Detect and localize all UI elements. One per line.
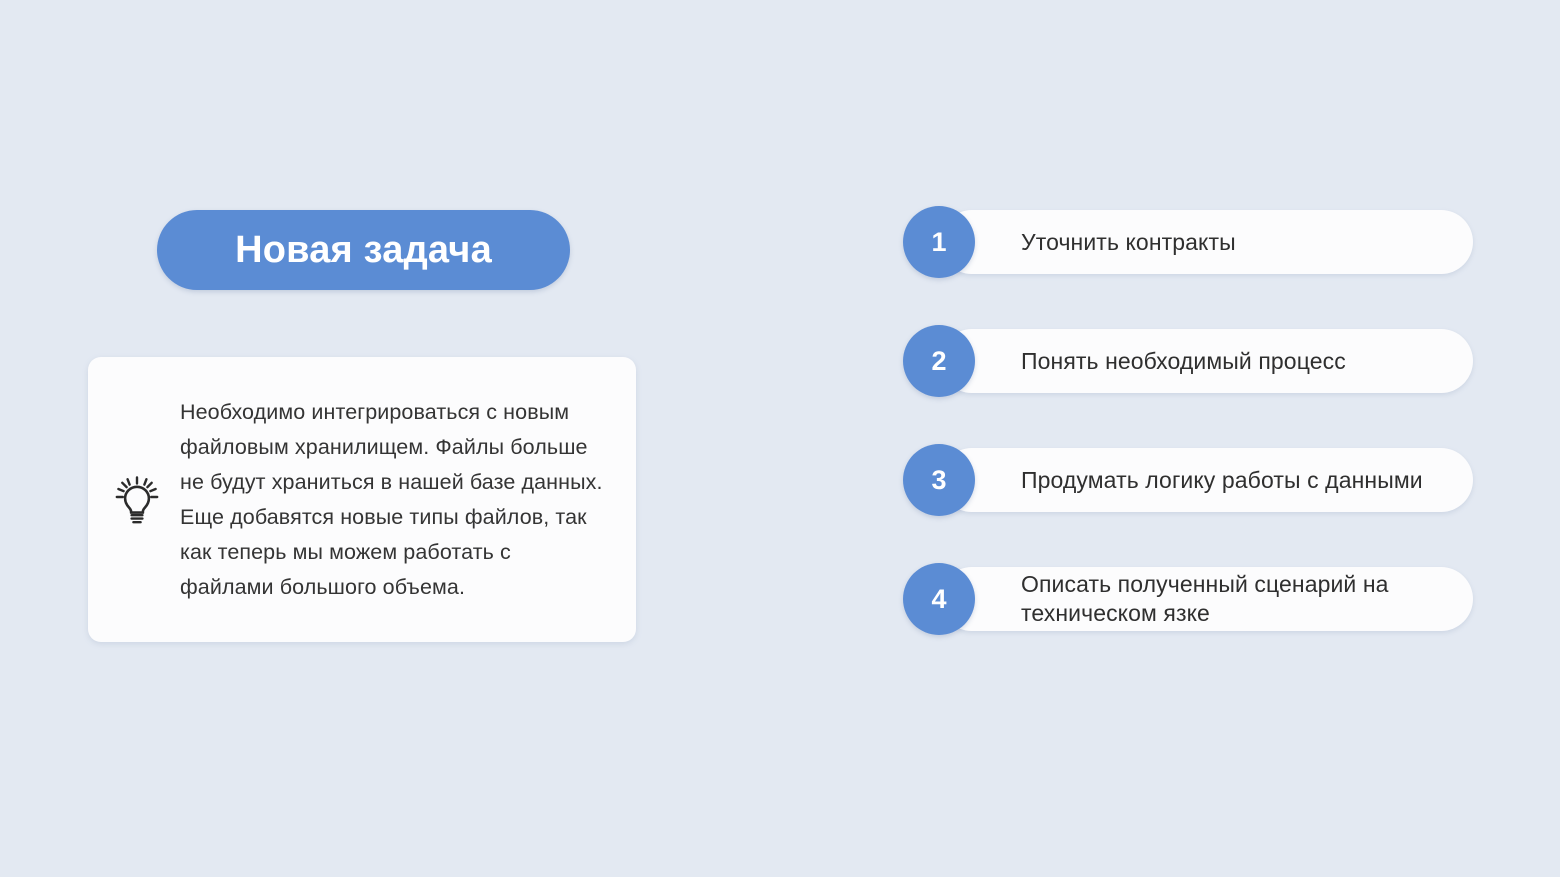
step-number-badge: 1 — [903, 206, 975, 278]
step-pill[interactable]: Описать полученный сценарий на техническ… — [940, 567, 1473, 631]
step-number-badge: 2 — [903, 325, 975, 397]
step-label: Уточнить контракты — [1021, 228, 1236, 257]
note-text: Необходимо интегрироваться с новым файло… — [180, 395, 636, 605]
step-number: 2 — [931, 348, 946, 375]
title-pill: Новая задача — [157, 210, 570, 290]
step-number-badge: 3 — [903, 444, 975, 516]
step-number-badge: 4 — [903, 563, 975, 635]
step-label: Понять необходимый процесс — [1021, 347, 1346, 376]
page-title: Новая задача — [235, 231, 492, 269]
list-item[interactable]: Понять необходимый процесс 2 — [903, 329, 1473, 393]
lightbulb-icon — [88, 475, 180, 525]
steps-list: Уточнить контракты 1 Понять необходимый … — [903, 210, 1473, 631]
step-pill[interactable]: Понять необходимый процесс — [940, 329, 1473, 393]
note-card: Необходимо интегрироваться с новым файло… — [88, 357, 636, 642]
list-item[interactable]: Продумать логику работы с данными 3 — [903, 448, 1473, 512]
step-label: Описать полученный сценарий на техническ… — [1021, 570, 1449, 628]
list-item[interactable]: Уточнить контракты 1 — [903, 210, 1473, 274]
step-number: 3 — [931, 467, 946, 494]
step-pill[interactable]: Уточнить контракты — [940, 210, 1473, 274]
step-number: 4 — [931, 586, 946, 613]
step-pill[interactable]: Продумать логику работы с данными — [940, 448, 1473, 512]
slide-canvas: Новая задача — [0, 0, 1560, 877]
step-number: 1 — [931, 229, 946, 256]
list-item[interactable]: Описать полученный сценарий на техническ… — [903, 567, 1473, 631]
step-label: Продумать логику работы с данными — [1021, 466, 1423, 495]
